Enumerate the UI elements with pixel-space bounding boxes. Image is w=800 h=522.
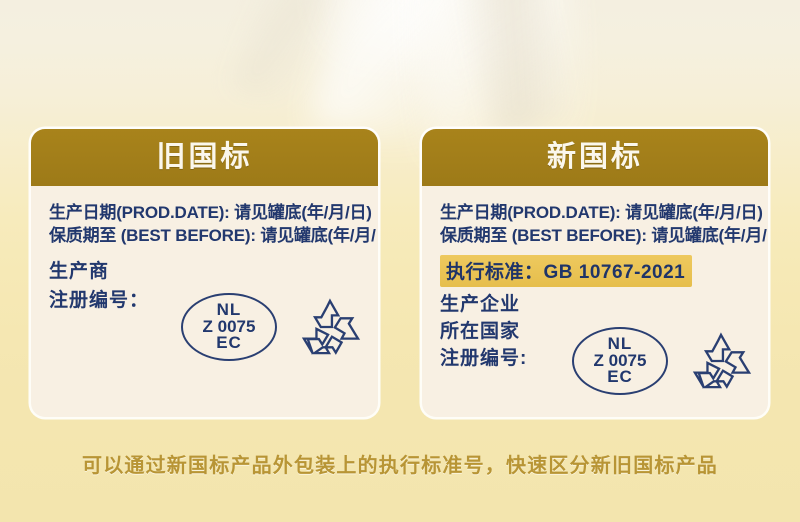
stamp-line-3: EC (216, 335, 242, 352)
silk-fold-decoration-3 (451, 0, 579, 138)
silk-glow-decoration (300, 0, 560, 60)
banner-caption: 可以通过新国标产品外包装上的执行标准号，快速区分新旧国标产品 (0, 449, 800, 478)
silk-fold-decoration-4 (231, 0, 328, 106)
nl-registration-stamp-icon: NL Z 0075 EC (181, 293, 277, 361)
card-old-standard-title: 旧国标 (156, 143, 252, 172)
manufacturer-label: 生产商 (49, 259, 378, 284)
prod-date-line: 生产日期(PROD.DATE): 请见罐底(年/月/日) (49, 202, 378, 225)
card-old-standard-header: 旧国标 (31, 129, 378, 186)
nl-registration-stamp-icon: NL Z 0075 EC (572, 327, 668, 395)
stamp-line-3: EC (607, 369, 633, 386)
certification-marks-group: NL Z 0075 EC (572, 327, 752, 395)
promo-banner: 旧国标 生产日期(PROD.DATE): 请见罐底(年/月/日) 保质期至 (B… (0, 0, 800, 522)
card-old-standard: 旧国标 生产日期(PROD.DATE): 请见罐底(年/月/日) 保质期至 (B… (31, 129, 378, 417)
execution-standard-row: 执行标准：GB 10767-2021 (440, 255, 768, 287)
card-new-standard-title: 新国标 (547, 143, 643, 172)
execution-standard-highlight: 执行标准：GB 10767-2021 (440, 255, 692, 287)
card-new-standard: 新国标 生产日期(PROD.DATE): 请见罐底(年/月/日) 保质期至 (B… (422, 129, 768, 417)
recycle-icon (690, 332, 752, 390)
best-before-line: 保质期至 (BEST BEFORE): 请见罐底(年/月/日) (49, 225, 378, 248)
certification-marks-group: NL Z 0075 EC (181, 293, 361, 361)
card-new-standard-body: 生产日期(PROD.DATE): 请见罐底(年/月/日) 保质期至 (BEST … (422, 186, 768, 371)
prod-date-line: 生产日期(PROD.DATE): 请见罐底(年/月/日) (440, 202, 768, 225)
card-new-standard-header: 新国标 (422, 129, 768, 186)
best-before-line: 保质期至 (BEST BEFORE): 请见罐底(年/月/日) (440, 225, 768, 248)
recycle-icon (299, 298, 361, 356)
producing-enterprise-label: 生产企业 (440, 292, 768, 317)
card-old-standard-body: 生产日期(PROD.DATE): 请见罐底(年/月/日) 保质期至 (BEST … (31, 186, 378, 313)
